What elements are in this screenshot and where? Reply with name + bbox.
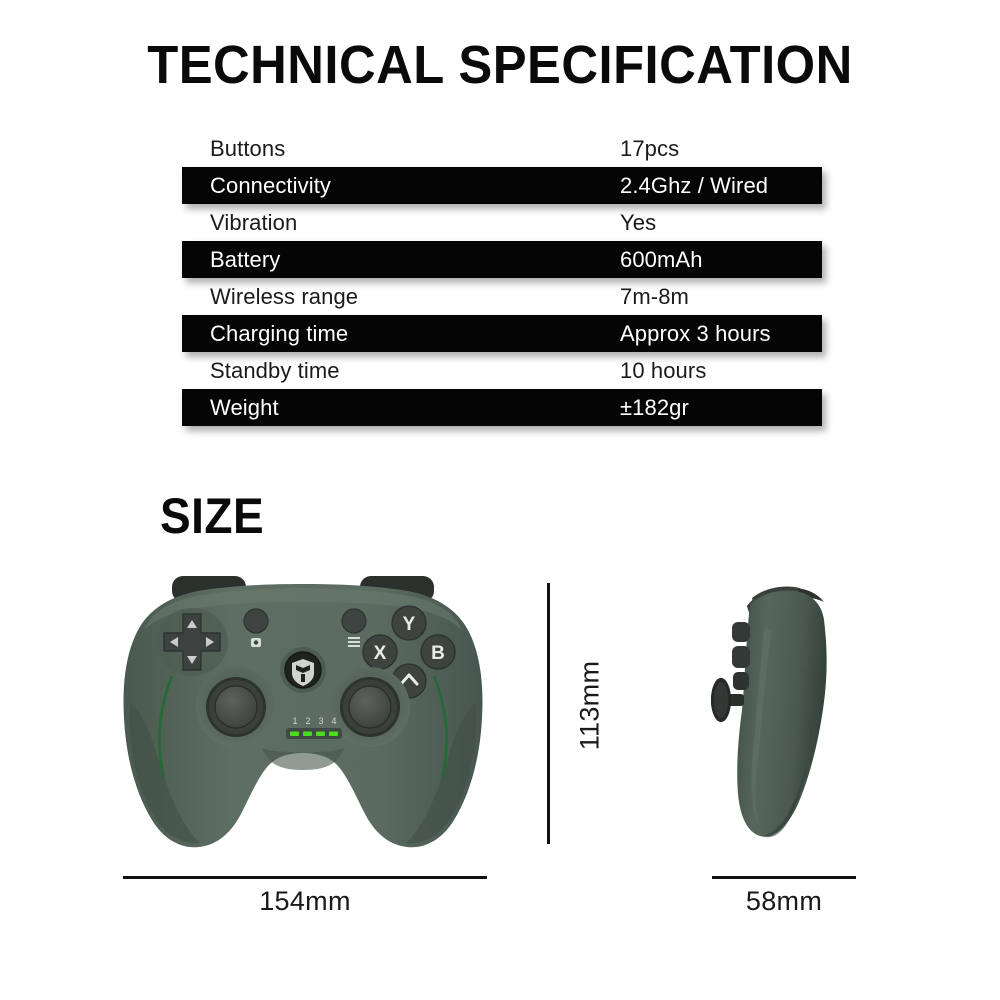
- height-dimension-label: 113mm: [575, 651, 606, 761]
- side-detail-nub: [800, 652, 808, 668]
- svg-text:B: B: [431, 643, 445, 664]
- side-body: [737, 591, 826, 837]
- table-row: Charging time Approx 3 hours: [182, 315, 822, 352]
- svg-text:Y: Y: [403, 614, 416, 635]
- face-button-b: B: [421, 635, 455, 669]
- table-row: Buttons 17pcs: [182, 130, 822, 167]
- front-width-dimension-label: 154mm: [123, 886, 487, 917]
- spec-value: Yes: [620, 210, 656, 236]
- spec-label: Vibration: [182, 210, 620, 236]
- led-4: [329, 732, 338, 737]
- size-section-title: SIZE: [160, 487, 264, 545]
- led-label-2: 2: [305, 716, 310, 726]
- spec-label: Wireless range: [182, 284, 620, 310]
- spec-value: 2.4Ghz / Wired: [620, 173, 768, 199]
- analog-stick-left: [196, 667, 276, 747]
- face-button-y: Y: [392, 606, 426, 640]
- spec-label: Battery: [182, 247, 620, 273]
- dpad: [156, 608, 228, 676]
- height-dimension-line: [547, 583, 550, 844]
- home-logo-button: [280, 647, 326, 693]
- led-label-1: 1: [292, 716, 297, 726]
- spec-label: Standby time: [182, 358, 620, 384]
- spec-value: 7m-8m: [620, 284, 689, 310]
- front-width-dimension-line: [123, 876, 487, 879]
- spec-label: Weight: [182, 395, 620, 421]
- table-row: Connectivity 2.4Ghz / Wired: [182, 167, 822, 204]
- side-width-dimension-label: 58mm: [702, 886, 866, 917]
- spec-label: Buttons: [182, 136, 620, 162]
- led-3: [316, 732, 325, 737]
- face-button-x: X: [363, 635, 397, 669]
- gamepad-front-view: Y X B: [112, 572, 494, 852]
- led-label-3: 3: [318, 716, 323, 726]
- gamepad-side-view: [700, 568, 870, 856]
- table-row: Standby time 10 hours: [182, 352, 822, 389]
- svg-text:X: X: [374, 643, 387, 664]
- led-1: [290, 732, 299, 737]
- table-row: Battery 600mAh: [182, 241, 822, 278]
- side-width-dimension-line: [712, 876, 856, 879]
- page-title: TECHNICAL SPECIFICATION: [30, 34, 970, 96]
- spec-value: 17pcs: [620, 136, 679, 162]
- table-row: Vibration Yes: [182, 204, 822, 241]
- led-label-4: 4: [331, 716, 336, 726]
- spec-label: Charging time: [182, 321, 620, 347]
- led-2: [303, 732, 312, 737]
- spec-value: 600mAh: [620, 247, 703, 273]
- spec-label: Connectivity: [182, 173, 620, 199]
- table-row: Weight ±182gr: [182, 389, 822, 426]
- spec-value: 10 hours: [620, 358, 706, 384]
- spec-value: ±182gr: [620, 395, 689, 421]
- side-shoulder-buttons: [732, 622, 750, 690]
- spec-table: Buttons 17pcs Connectivity 2.4Ghz / Wire…: [182, 130, 822, 426]
- table-row: Wireless range 7m-8m: [182, 278, 822, 315]
- spec-value: Approx 3 hours: [620, 321, 771, 347]
